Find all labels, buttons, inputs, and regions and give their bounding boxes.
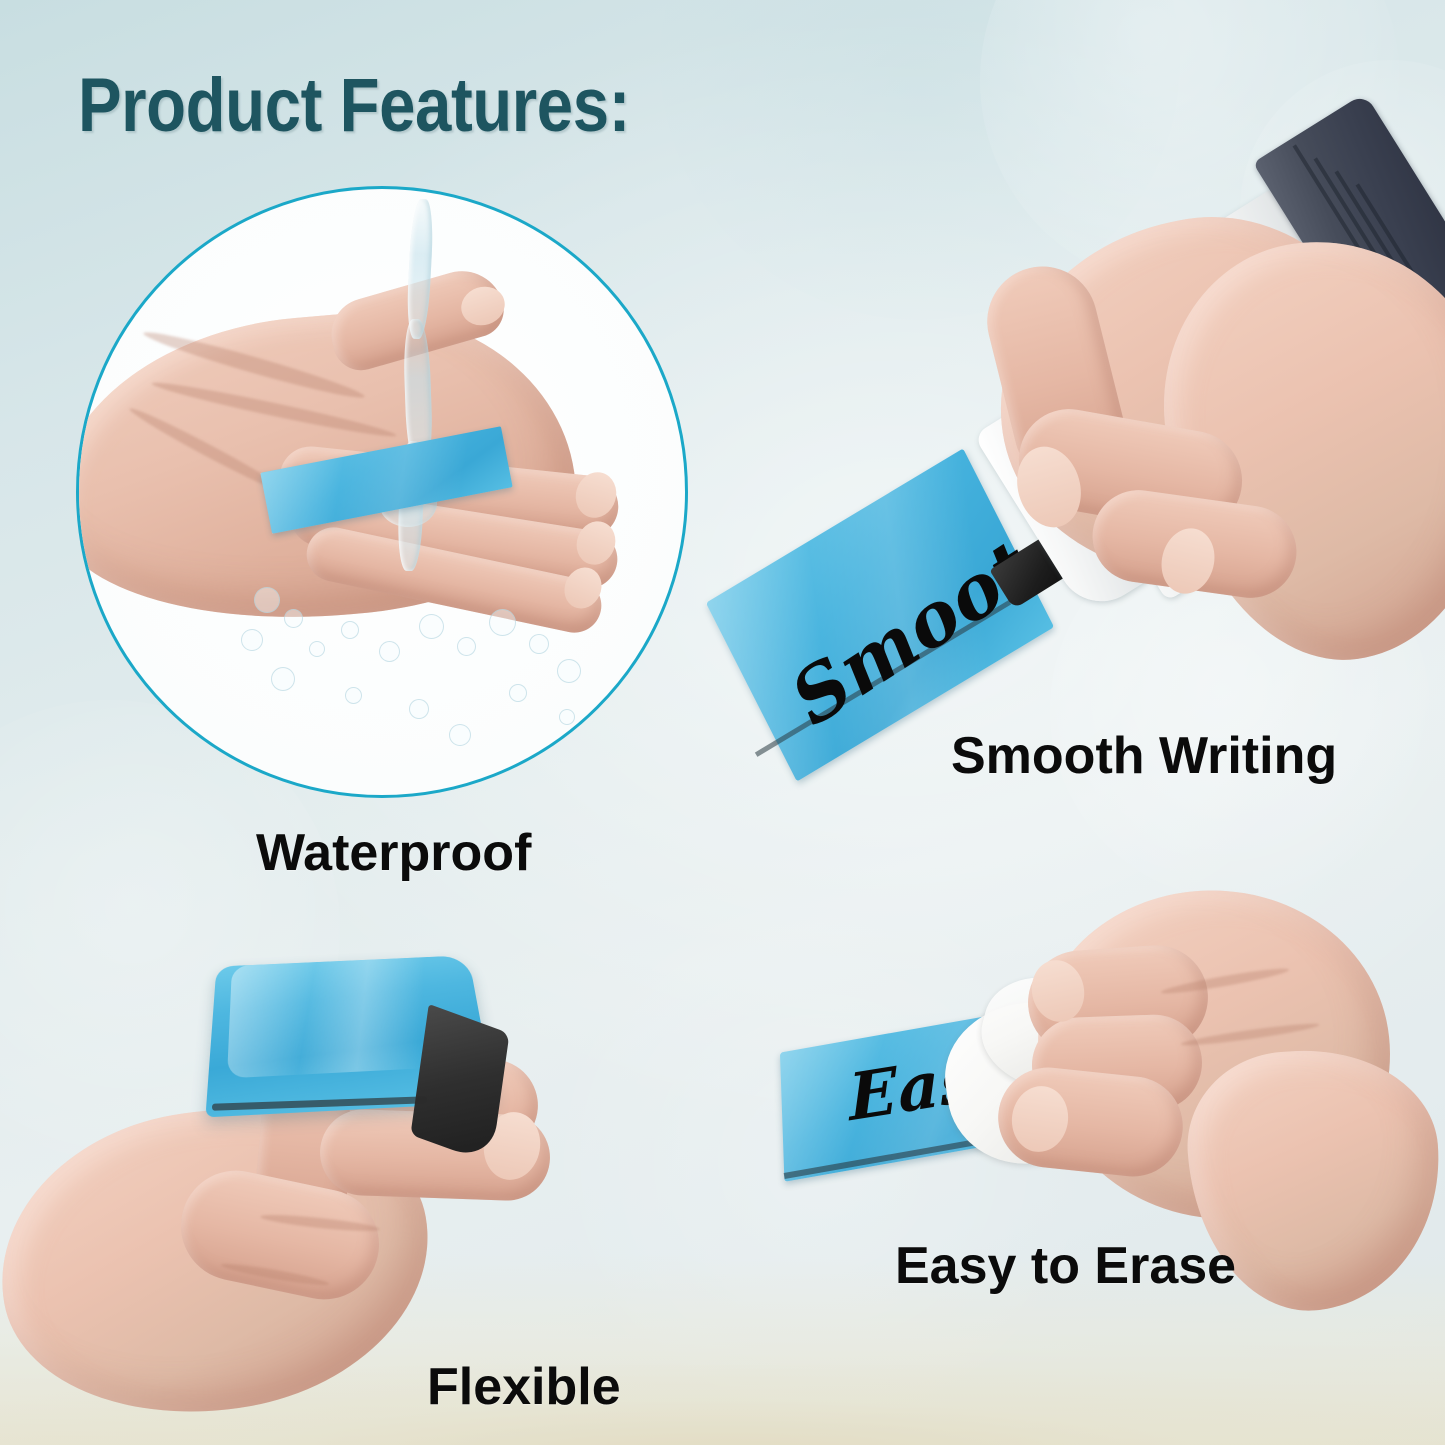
water-droplet <box>241 629 263 651</box>
water-droplet <box>309 641 325 657</box>
water-droplet <box>559 709 575 725</box>
water-droplet <box>489 609 516 636</box>
caption-easy-to-erase: Easy to Erase <box>895 1236 1236 1296</box>
flexible-scene <box>60 940 620 1400</box>
page-title: Product Features: <box>78 62 630 149</box>
water-droplet <box>254 587 280 613</box>
water-droplet <box>457 637 476 656</box>
water-droplet <box>284 609 303 628</box>
product-features-infographic: Product Features: <box>0 0 1445 1445</box>
water-droplet <box>409 699 429 719</box>
water-droplet <box>449 724 471 746</box>
water-droplet <box>345 687 362 704</box>
water-droplet <box>557 659 581 683</box>
caption-flexible: Flexible <box>427 1357 621 1417</box>
caption-smooth-writing: Smooth Writing <box>951 726 1337 786</box>
waterproof-photo <box>76 186 688 798</box>
water-droplet <box>529 634 549 654</box>
flexible-label-sheen <box>227 957 449 1079</box>
water-droplet <box>509 684 527 702</box>
water-droplet <box>379 641 400 662</box>
caption-waterproof: Waterproof <box>256 823 531 883</box>
water-droplet <box>271 667 295 691</box>
water-droplet <box>341 621 359 639</box>
water-droplet <box>419 614 444 639</box>
